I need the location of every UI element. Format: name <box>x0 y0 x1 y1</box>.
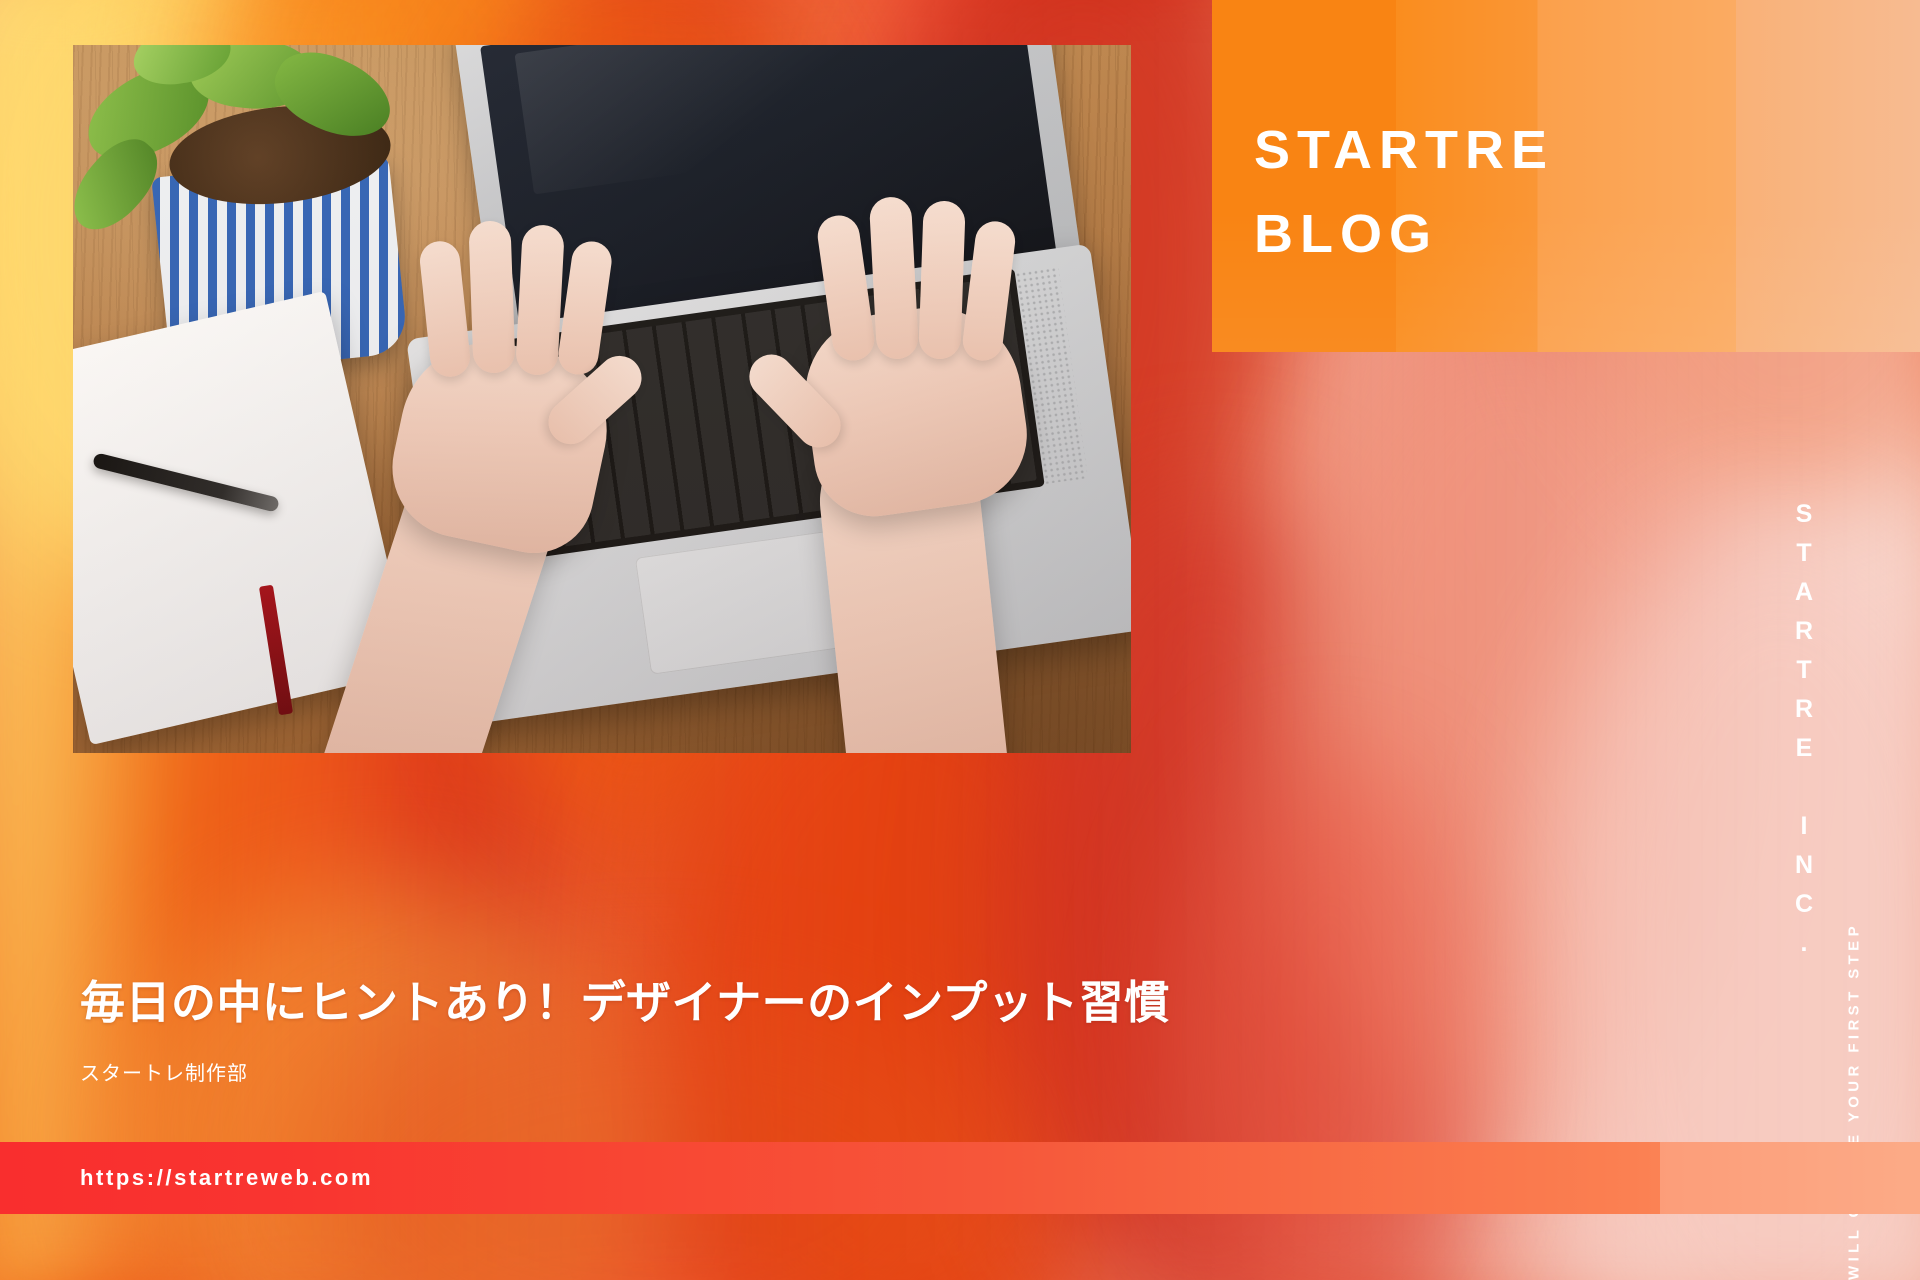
screen-reflection <box>514 45 867 194</box>
post-title: 毎日の中にヒントあり！デザイナーのインプット習慣 <box>80 975 1230 1031</box>
site-url[interactable]: https://startreweb.com <box>80 1165 373 1191</box>
finger <box>869 196 919 360</box>
finger <box>918 200 965 359</box>
url-bar: https://startreweb.com <box>0 1142 1920 1214</box>
brand-logotype: STARTRE BLOG <box>1254 108 1554 276</box>
brand-line-2: BLOG <box>1254 192 1554 276</box>
finger <box>468 220 515 373</box>
company-name-vertical: STARTRE INC. <box>1789 500 1818 968</box>
title-block: 毎日の中にヒントあり！デザイナーのインプット習慣 スタートレ制作部 <box>80 975 1230 1086</box>
post-author: スタートレ制作部 <box>80 1057 1230 1086</box>
hero-photo <box>73 45 1131 753</box>
tagline-vertical: WE WILL CREATE YOUR FIRST STEP <box>1846 922 1863 1280</box>
url-bar-highlight <box>1660 1142 1920 1214</box>
brand-line-1: STARTRE <box>1254 108 1554 192</box>
brand-panel: STARTRE BLOG <box>1212 0 1920 352</box>
